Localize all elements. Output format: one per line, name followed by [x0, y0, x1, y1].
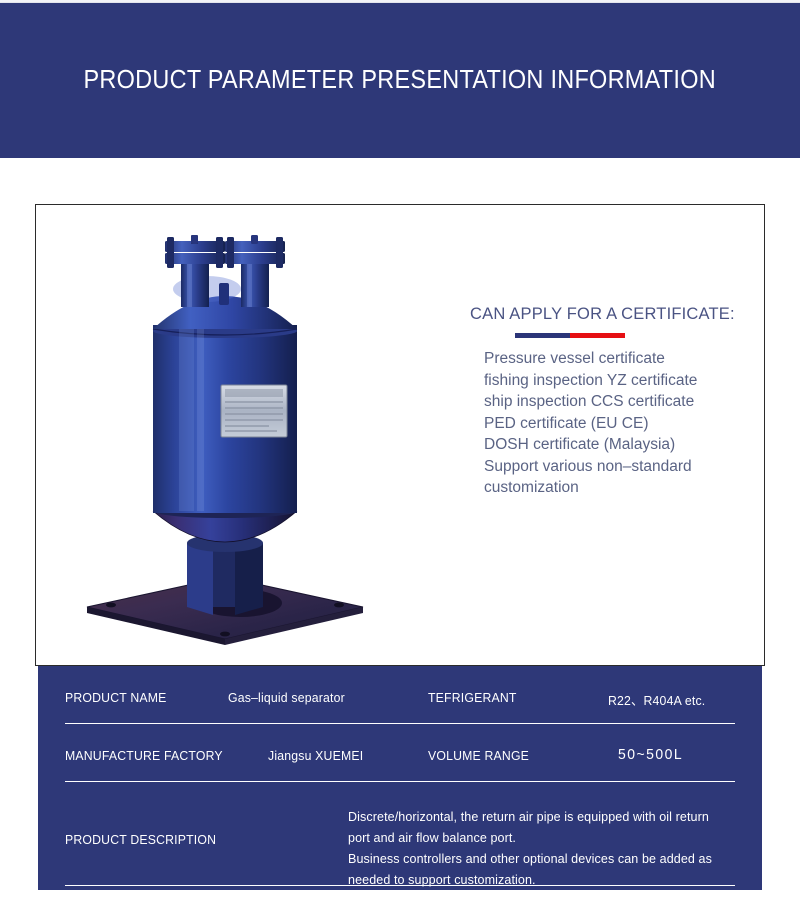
vessel-support-skirt: [187, 534, 263, 615]
cell-manufacture-factory-value: Jiangsu XUEMEI: [268, 748, 363, 763]
list-item: PED certificate (EU CE): [484, 413, 735, 435]
cell-product-description-label: PRODUCT DESCRIPTION: [65, 832, 216, 847]
row-divider: [65, 885, 735, 886]
description-line: port and air flow balance port.: [348, 827, 747, 848]
cell-volume-range-label: VOLUME RANGE: [428, 748, 529, 763]
list-item: Support various non–standard: [484, 456, 735, 478]
cell-manufacture-factory-label: MANUFACTURE FACTORY: [65, 748, 223, 763]
cell-refrigerant-label: TEFRIGERANT: [428, 690, 517, 705]
list-item: customization: [484, 477, 735, 499]
cell-product-name-value: Gas–liquid separator: [228, 690, 345, 705]
certificate-list: Pressure vessel certificate fishing insp…: [484, 348, 735, 499]
certificate-block: CAN APPLY FOR A CERTIFICATE: Pressure ve…: [470, 305, 735, 499]
vessel-centre-vent: [219, 283, 229, 305]
certificate-heading: CAN APPLY FOR A CERTIFICATE:: [470, 305, 735, 324]
list-item: Pressure vessel certificate: [484, 348, 735, 370]
cell-refrigerant-value: R22、R404A etc.: [608, 690, 705, 709]
cell-product-description-value: Discrete/horizontal, the return air pipe…: [348, 806, 747, 890]
description-line: needed to support customization.: [348, 869, 747, 890]
gas-liquid-separator-illustration: [75, 225, 375, 645]
list-item: ship inspection CCS certificate: [484, 391, 735, 413]
certificate-divider: [515, 333, 625, 338]
list-item: fishing inspection YZ certificate: [484, 370, 735, 392]
table-row-description: PRODUCT DESCRIPTION Discrete/horizontal,…: [38, 782, 762, 890]
divider-segment-red: [570, 333, 625, 338]
cell-product-name-label: PRODUCT NAME: [65, 690, 167, 705]
divider-segment-blue: [515, 333, 570, 338]
header-banner: PRODUCT PARAMETER PRESENTATION INFORMATI…: [0, 3, 800, 158]
list-item: DOSH certificate (Malaysia): [484, 434, 735, 456]
table-row: MANUFACTURE FACTORY Jiangsu XUEMEI VOLUM…: [38, 724, 762, 782]
table-row: PRODUCT NAME Gas–liquid separator TEFRIG…: [38, 666, 762, 724]
product-photo: [75, 225, 375, 645]
cell-volume-range-value: 50~500L: [618, 746, 683, 763]
page-title: PRODUCT PARAMETER PRESENTATION INFORMATI…: [84, 66, 716, 95]
description-line: Business controllers and other optional …: [348, 848, 747, 869]
spec-table: PRODUCT NAME Gas–liquid separator TEFRIG…: [38, 666, 762, 890]
vessel-nameplate: [221, 385, 287, 437]
description-line: Discrete/horizontal, the return air pipe…: [348, 806, 747, 827]
